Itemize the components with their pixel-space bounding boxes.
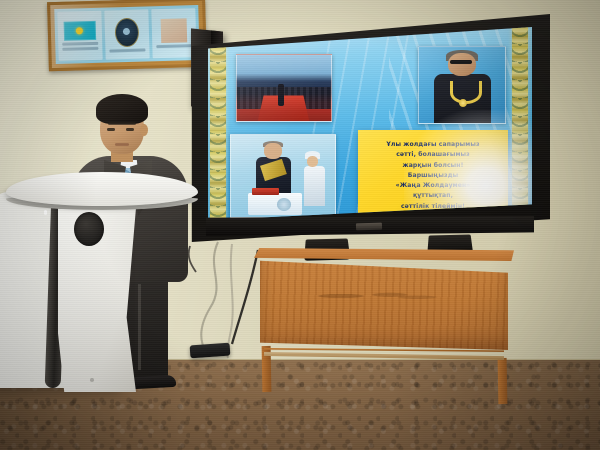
lectern-screw bbox=[90, 378, 94, 382]
glasses-icon bbox=[450, 60, 472, 65]
presentation-slide: Ұлы жолдағы сапарымыз сәтті, болашағымыз… bbox=[208, 26, 532, 222]
presenter-eye-left bbox=[107, 128, 115, 131]
presenter-brow bbox=[108, 122, 136, 125]
cabinet-leg-right bbox=[498, 358, 508, 404]
slide-ornament-border-left bbox=[210, 26, 226, 222]
oath-official-face bbox=[264, 143, 282, 159]
presenter-hair bbox=[96, 94, 148, 124]
medal-icon bbox=[459, 99, 468, 107]
lectern-emblem bbox=[74, 212, 104, 246]
poster-glass-glare bbox=[50, 1, 204, 68]
tv-screen: Ұлы жолдағы сапарымыз сәтті, болашағымыз… bbox=[208, 26, 532, 222]
slide-text-line-1: Ұлы жолдағы сапарымыз bbox=[386, 140, 479, 150]
slide-photo-red-carpet bbox=[236, 54, 332, 122]
tv-brand-badge bbox=[356, 223, 382, 231]
slide-text-line-6: құттықтап, bbox=[413, 191, 453, 201]
official-face bbox=[448, 53, 476, 76]
cabinet-top-surface bbox=[254, 248, 514, 261]
wood-grain bbox=[295, 286, 449, 306]
slide-photo-official bbox=[418, 46, 506, 124]
presenter-mouth bbox=[115, 143, 129, 146]
lectern bbox=[0, 172, 198, 392]
oath-podium bbox=[248, 193, 302, 214]
constitution-book bbox=[252, 188, 279, 195]
slide-text-line-3: жарқын болсын! bbox=[403, 161, 464, 171]
slide-text-line-4: Баршыңызды bbox=[408, 171, 459, 181]
cabinet-front-panel bbox=[260, 258, 508, 350]
presenter-eye-right bbox=[126, 128, 134, 131]
photo-scene: Ұлы жолдағы сапарымыз сәтті, болашағымыз… bbox=[0, 0, 600, 450]
slide-photo-oath-ceremony bbox=[230, 134, 336, 218]
slide-text-line-2: сәтті, болашағымыз bbox=[396, 150, 470, 160]
tv-cabinet bbox=[258, 248, 510, 370]
child-in-costume bbox=[304, 166, 325, 205]
television: Ұлы жолдағы сапарымыз сәтті, болашағымыз… bbox=[190, 14, 550, 242]
child-face bbox=[307, 156, 318, 167]
state-symbols-poster bbox=[47, 0, 207, 71]
presenter-ear bbox=[140, 124, 148, 136]
slide-ornament-border-right bbox=[512, 26, 528, 222]
lectern-highlight bbox=[44, 210, 47, 215]
lectern-desktop bbox=[6, 172, 198, 206]
walking-figure bbox=[278, 84, 284, 106]
cabinet-lower-shelf bbox=[264, 352, 504, 360]
slide-text-line-5: «Жаңа Жолдаумен» bbox=[396, 181, 471, 191]
